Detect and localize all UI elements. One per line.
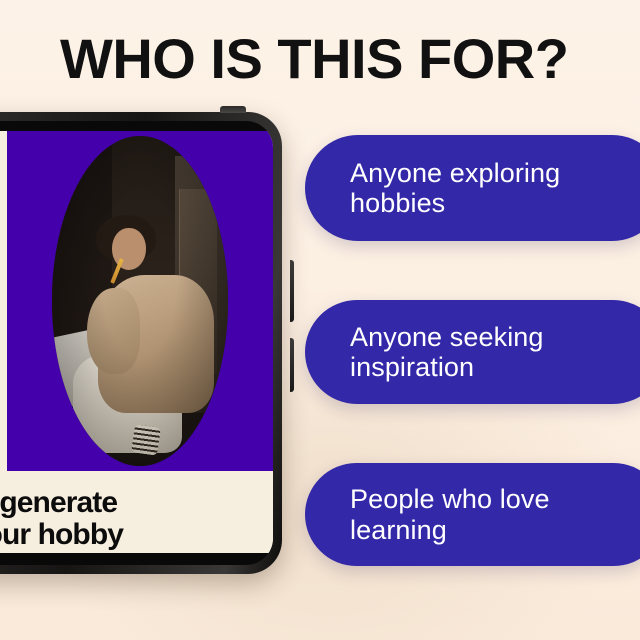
phone-screen: ft Inside ing ai to generate as for your… <box>0 131 273 553</box>
screen-left-rail <box>0 131 7 471</box>
audience-pill-1-label: Anyone exploring hobbies <box>305 158 595 219</box>
photo-vignette <box>52 136 228 466</box>
audience-pill-3[interactable]: People who love learning <box>305 463 640 566</box>
audience-pill-2-label: Anyone seeking inspiration <box>305 322 595 383</box>
page-title: WHO IS THIS FOR? <box>60 30 600 89</box>
phone-top-button[interactable] <box>220 106 246 113</box>
screen-headline: ing ai to generate as for your hobby <box>0 487 273 551</box>
screen-headline-line-2: as for your hobby <box>0 519 273 551</box>
audience-pill-2[interactable]: Anyone seeking inspiration <box>305 300 640 404</box>
audience-pill-1[interactable]: Anyone exploring hobbies <box>305 135 640 241</box>
phone-bezel: ft Inside ing ai to generate as for your… <box>0 121 273 565</box>
phone-volume-button[interactable] <box>290 260 294 322</box>
screen-headline-line-1: ing ai to generate <box>0 487 273 519</box>
screen-art-block <box>7 131 273 471</box>
phone-power-button[interactable] <box>290 338 294 392</box>
audience-pill-3-label: People who love learning <box>305 484 595 545</box>
woman-with-laptop-photo <box>52 136 228 466</box>
slide-canvas: WHO IS THIS FOR? <box>0 0 640 640</box>
screen-headline-card: ing ai to generate as for your hobby <box>0 471 273 553</box>
phone-mockup: ft Inside ing ai to generate as for your… <box>0 112 282 574</box>
